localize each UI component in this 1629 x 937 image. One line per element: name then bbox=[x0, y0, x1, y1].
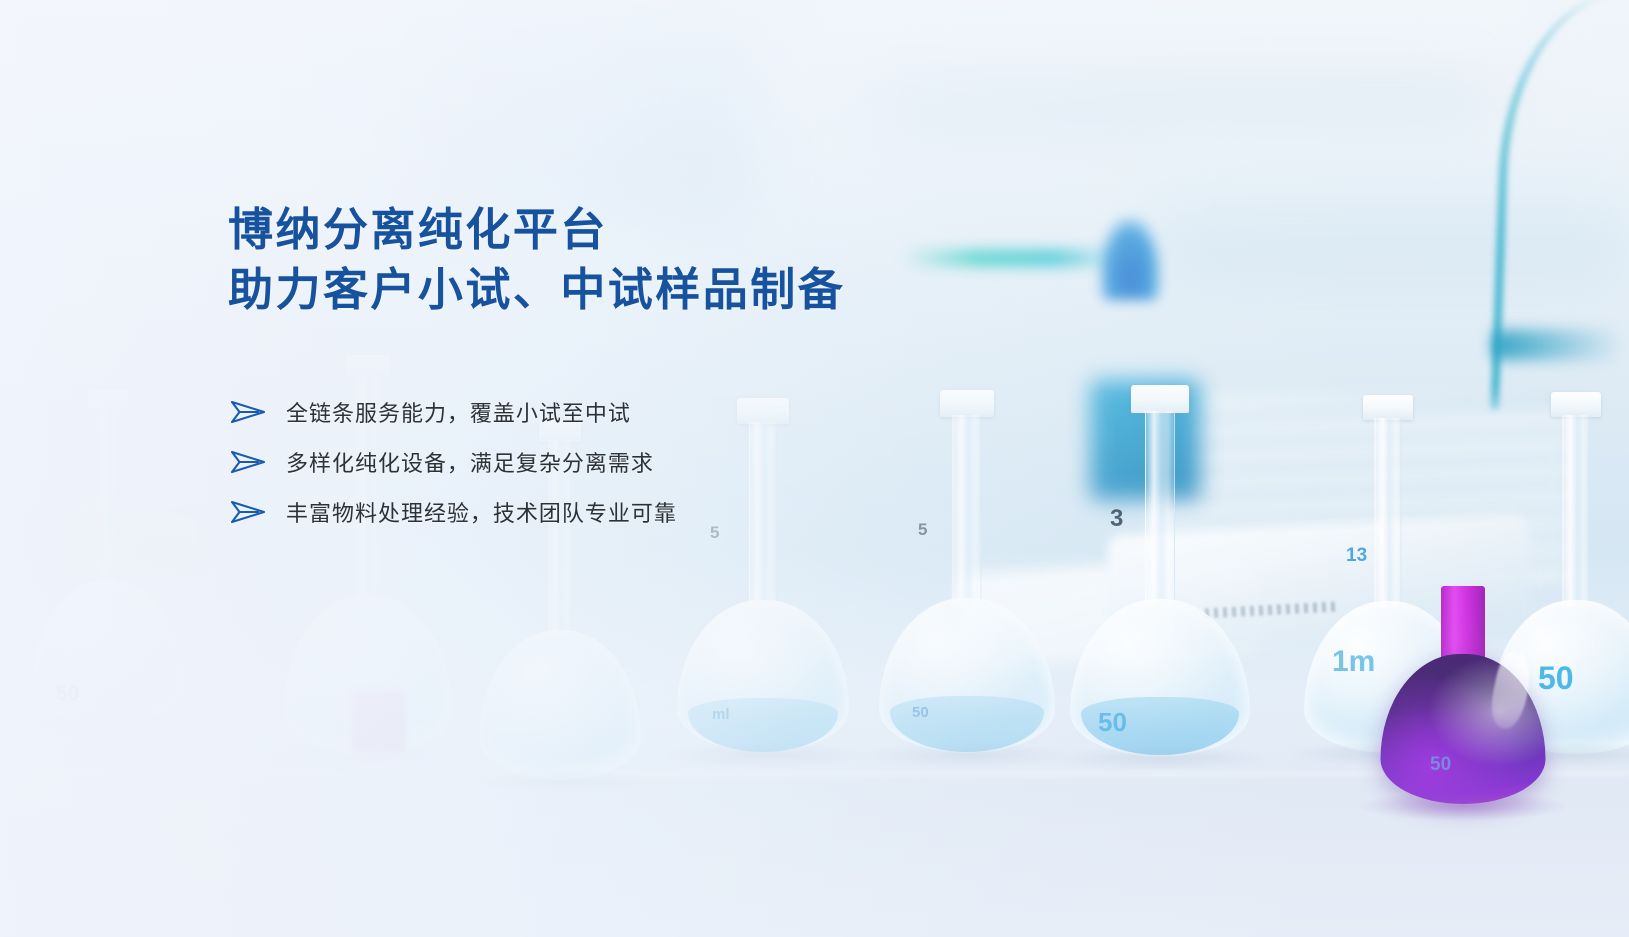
banner-content: 博纳分离纯化平台 助力客户小试、中试样品制备 全链条服务能力，覆盖小试至中试 多… bbox=[228, 200, 1128, 537]
arrow-right-icon bbox=[228, 499, 268, 525]
arrow-right-icon bbox=[228, 449, 268, 475]
arrow-right-icon bbox=[228, 399, 268, 425]
headline: 博纳分离纯化平台 助力客户小试、中试样品制备 bbox=[228, 200, 1128, 321]
feature-list: 全链条服务能力，覆盖小试至中试 多样化纯化设备，满足复杂分离需求 丰富物料处理经… bbox=[228, 387, 1128, 537]
feature-text: 全链条服务能力，覆盖小试至中试 bbox=[286, 396, 631, 428]
feature-text: 多样化纯化设备，满足复杂分离需求 bbox=[286, 446, 654, 478]
feature-text: 丰富物料处理经验，技术团队专业可靠 bbox=[286, 496, 677, 528]
feature-item-1: 全链条服务能力，覆盖小试至中试 bbox=[228, 387, 1128, 437]
feature-item-3: 丰富物料处理经验，技术团队专业可靠 bbox=[228, 487, 1128, 537]
headline-line-1: 博纳分离纯化平台 bbox=[228, 200, 1128, 260]
feature-item-2: 多样化纯化设备，满足复杂分离需求 bbox=[228, 437, 1128, 487]
hero-banner: 50 5 ml bbox=[0, 0, 1629, 937]
headline-line-2: 助力客户小试、中试样品制备 bbox=[228, 260, 1128, 320]
